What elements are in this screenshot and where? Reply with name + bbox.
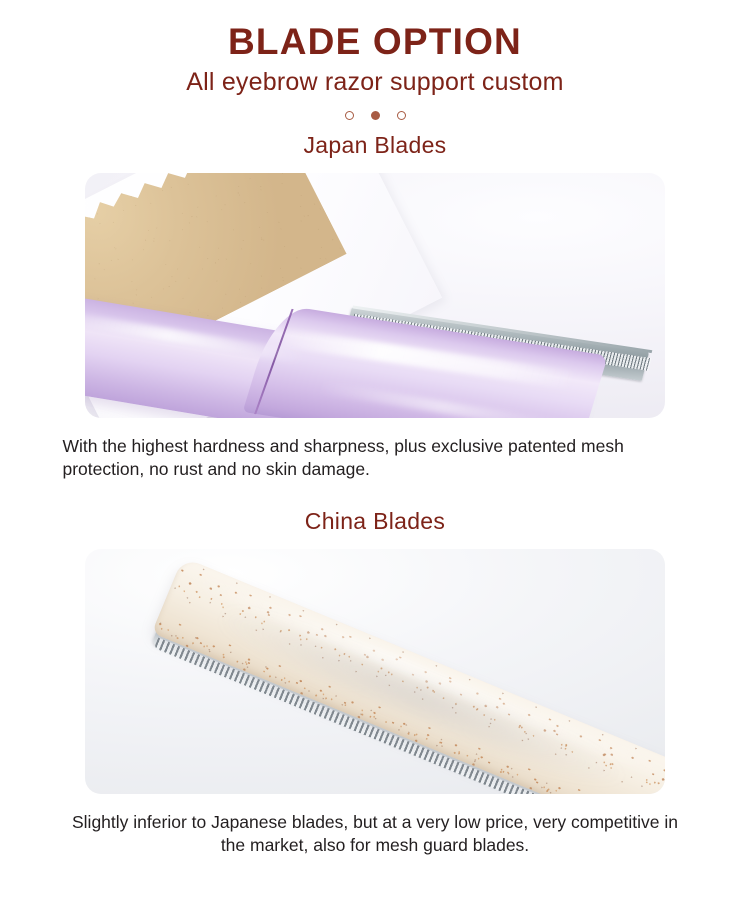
description-china-blades: Slightly inferior to Japanese blades, bu…: [63, 811, 688, 858]
japan-blade-photo: [85, 173, 665, 418]
carousel-dot-2-active[interactable]: [371, 111, 380, 120]
carousel-dots[interactable]: [0, 110, 750, 122]
page-subtitle: All eyebrow razor support custom: [0, 68, 750, 97]
carousel-dot-1[interactable]: [345, 111, 354, 120]
blade-option-product-page: BLADE OPTION All eyebrow razor support c…: [0, 0, 750, 901]
section-heading-china-blades: China Blades: [0, 508, 750, 535]
carousel-dot-3[interactable]: [397, 111, 406, 120]
china-blade-photo: [85, 549, 665, 794]
page-title: BLADE OPTION: [0, 22, 750, 62]
page-header: BLADE OPTION All eyebrow razor support c…: [0, 0, 750, 97]
description-japan-blades: With the highest hardness and sharpness,…: [63, 435, 688, 482]
section-heading-japan-blades: Japan Blades: [0, 132, 750, 159]
